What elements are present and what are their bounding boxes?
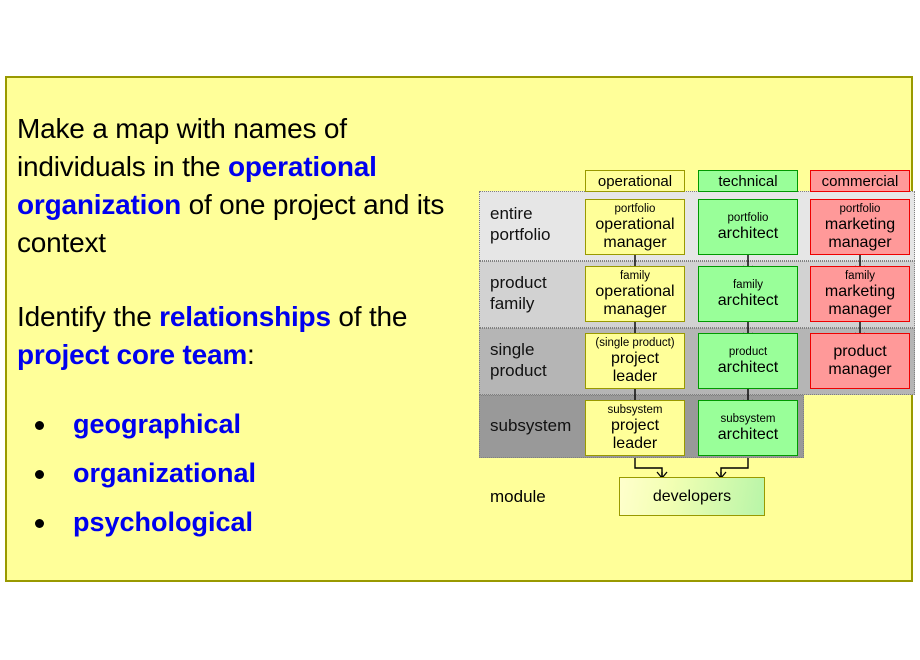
node-title-line1: operational [595, 216, 674, 234]
bullet-dot-icon [35, 421, 44, 430]
row-label-product-family: product family [490, 272, 547, 314]
row-label-entire-portfolio: entire portfolio [490, 203, 550, 245]
paragraph-2-segment-5: : [247, 339, 255, 370]
node-subtitle: portfolio [728, 212, 769, 225]
paragraph-2-highlight-relationships: relationships [159, 301, 331, 332]
node-title-line1: architect [718, 292, 778, 310]
list-item: organizational [25, 449, 467, 498]
node-subtitle: family [845, 270, 875, 283]
paragraph-2-highlight-core-team: project core team [17, 339, 247, 370]
node-product-architect[interactable]: product architect [698, 333, 798, 389]
node-subtitle: portfolio [840, 203, 881, 216]
node-portfolio-marketing-manager[interactable]: portfolio marketing manager [810, 199, 910, 255]
paragraph-2-segment-1: Identify the [17, 301, 159, 332]
column-header-technical: technical [698, 170, 798, 192]
slide-canvas: Make a map with names of individuals in … [5, 76, 913, 582]
node-subtitle: family [733, 279, 763, 292]
node-developers[interactable]: developers [619, 477, 765, 516]
node-title-line1: architect [718, 426, 778, 444]
node-title-line1: marketing [825, 283, 895, 301]
node-subtitle: subsystem [721, 413, 776, 426]
node-title-line2: manager [828, 234, 891, 252]
bullet-label: organizational [73, 458, 256, 488]
node-title-line1: marketing [825, 216, 895, 234]
node-title-line1: architect [718, 225, 778, 243]
node-subtitle: portfolio [615, 203, 656, 216]
node-title-line2: leader [613, 435, 657, 453]
bullet-dot-icon [35, 470, 44, 479]
bullet-dot-icon [35, 519, 44, 528]
text-content-column: Make a map with names of individuals in … [17, 110, 467, 563]
node-title-line2: manager [828, 301, 891, 319]
node-title-line1: operational [595, 283, 674, 301]
bullet-label: psychological [73, 507, 253, 537]
node-subsystem-architect[interactable]: subsystem architect [698, 400, 798, 456]
node-title-line2: manager [603, 234, 666, 252]
node-subsystem-project-leader[interactable]: subsystem project leader [585, 400, 685, 456]
node-subtitle: family [620, 270, 650, 283]
row-label-single-product: single product [490, 339, 547, 381]
node-title-line2: manager [828, 361, 891, 379]
list-item: psychological [25, 498, 467, 547]
bullet-label: geographical [73, 409, 241, 439]
node-title-line1: developers [653, 488, 731, 506]
node-family-marketing-manager[interactable]: family marketing manager [810, 266, 910, 322]
paragraph-2-segment-3: of the [331, 301, 407, 332]
bullet-list: geographical organizational psychologica… [25, 400, 467, 547]
node-subtitle: (single product) [595, 337, 674, 350]
list-item: geographical [25, 400, 467, 449]
node-single-product-project-leader[interactable]: (single product) project leader [585, 333, 685, 389]
node-family-architect[interactable]: family architect [698, 266, 798, 322]
node-product-manager[interactable]: product manager [810, 333, 910, 389]
column-header-commercial: commercial [810, 170, 910, 192]
column-header-operational: operational [585, 170, 685, 192]
paragraph-2: Identify the relationships of the projec… [17, 298, 467, 374]
row-label-module: module [490, 487, 546, 507]
node-family-operational-manager[interactable]: family operational manager [585, 266, 685, 322]
node-portfolio-architect[interactable]: portfolio architect [698, 199, 798, 255]
organization-matrix-diagram: entire portfolio product family single p… [479, 90, 915, 510]
paragraph-1: Make a map with names of individuals in … [17, 110, 467, 262]
node-title-line2: leader [613, 368, 657, 386]
node-title-line1: product [833, 343, 886, 361]
node-title-line1: architect [718, 359, 778, 377]
node-subtitle: subsystem [608, 404, 663, 417]
node-title-line1: project [611, 417, 659, 435]
node-subtitle: product [729, 346, 767, 359]
row-label-subsystem: subsystem [490, 415, 571, 436]
node-portfolio-operational-manager[interactable]: portfolio operational manager [585, 199, 685, 255]
node-title-line2: manager [603, 301, 666, 319]
node-title-line1: project [611, 350, 659, 368]
